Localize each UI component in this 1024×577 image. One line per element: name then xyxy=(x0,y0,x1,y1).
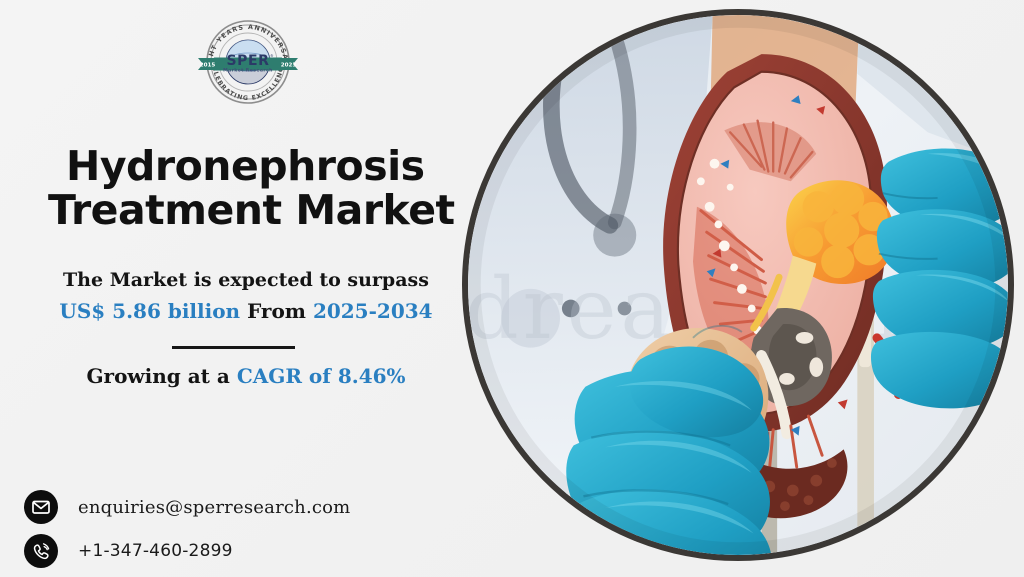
contact-phone-text[interactable]: +1-347-460-2899 xyxy=(78,541,233,561)
market-forecast-statement: The Market is expected to surpass US$ 5.… xyxy=(46,268,446,325)
cagr-prefix: Growing at a xyxy=(86,364,229,388)
contact-phone-row[interactable]: +1-347-460-2899 xyxy=(24,531,350,571)
title-line-1: Hydronephrosis xyxy=(46,144,476,188)
forecast-connector: From xyxy=(247,299,306,323)
logo-badge-icon: EIGHT YEARS ANNIVERSARY CELEBRATING EXCE… xyxy=(196,12,300,112)
marketing-banner: EIGHT YEARS ANNIVERSARY CELEBRATING EXCE… xyxy=(0,0,1024,577)
envelope-icon[interactable] xyxy=(24,490,58,524)
contact-email-row[interactable]: enquiries@sperresearch.com xyxy=(24,487,350,527)
phone-ringing-icon[interactable] xyxy=(24,534,58,568)
forecast-figures: US$ 5.86 billion From 2025-2034 xyxy=(46,297,446,325)
cagr-value: CAGR of 8.46% xyxy=(237,364,406,388)
page-title: Hydronephrosis Treatment Market xyxy=(46,144,476,233)
contact-block: enquiries@sperresearch.com +1-347-460-28… xyxy=(24,487,350,575)
market-value: US$ 5.86 billion xyxy=(59,299,240,323)
forecast-lead-text: The Market is expected to surpass xyxy=(46,268,446,294)
logo-brand: SPER xyxy=(226,53,269,69)
title-line-2: Treatment Market xyxy=(46,188,476,232)
forecast-period: 2025-2034 xyxy=(313,299,433,323)
logo-tagline: Market Research xyxy=(223,68,273,74)
kidney-model-photo: dreamstime xyxy=(462,9,1014,561)
logo-year-start: 2015 xyxy=(200,63,216,69)
sper-market-research-logo: EIGHT YEARS ANNIVERSARY CELEBRATING EXCE… xyxy=(196,12,300,112)
kidney-model-illustration: dreamstime xyxy=(468,15,1008,555)
logo-registered-mark: ® xyxy=(270,54,274,58)
cagr-statement: Growing at a CAGR of 8.46% xyxy=(46,364,446,388)
contact-email-text[interactable]: enquiries@sperresearch.com xyxy=(78,497,350,518)
logo-year-end: 2023 xyxy=(281,63,297,69)
section-divider xyxy=(172,346,295,349)
